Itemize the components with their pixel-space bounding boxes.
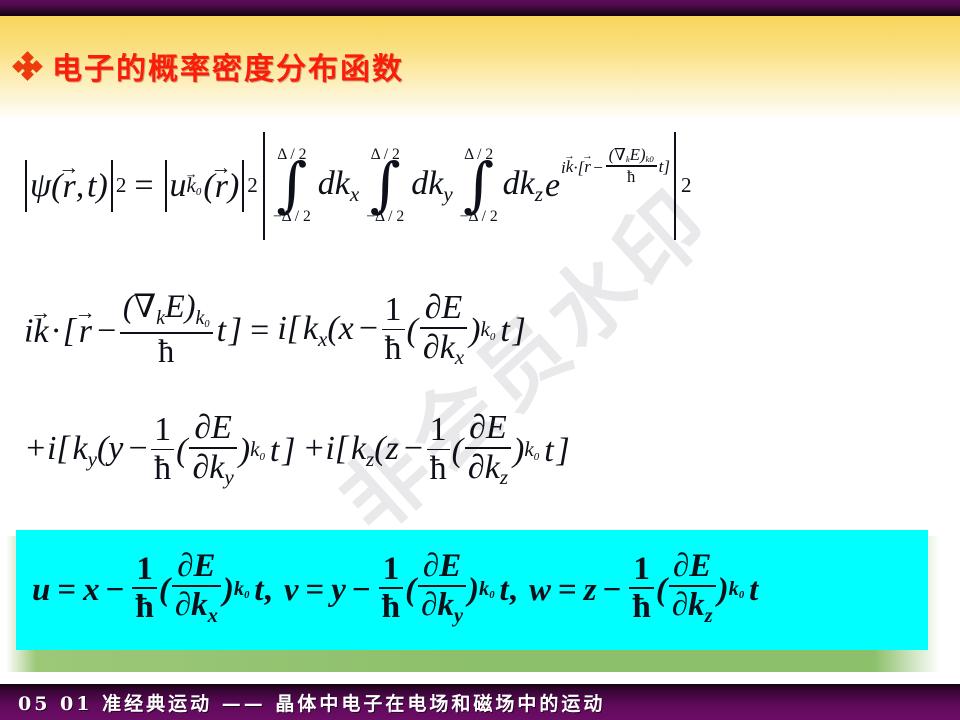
eq3-partial-fraction-y: ∂E ∂ky bbox=[189, 410, 236, 488]
eq4-partial-kx: ∂kx bbox=[172, 588, 221, 627]
exponent-expression: ik·[r − (∇kE)k0 ħ t] bbox=[561, 147, 670, 187]
eq4-t-w: t bbox=[749, 574, 758, 607]
eq2-paren-close: ) bbox=[469, 314, 480, 348]
eq4-x: x bbox=[83, 574, 100, 607]
eq3-term1-open: +i[ ky(y − bbox=[24, 432, 149, 470]
integral-ky-symbol: ∫ bbox=[370, 161, 401, 212]
eq4-comma-1: , bbox=[264, 574, 272, 607]
eq4-partial-fraction-w: ∂E ∂kz bbox=[669, 549, 716, 627]
eq3-partial-kz: ∂kz bbox=[465, 450, 511, 489]
eq4-v: v bbox=[284, 574, 299, 607]
eq4-one-over-hbar-u: 1 ħ bbox=[132, 552, 156, 625]
eq4-partial-kz: ∂kz bbox=[669, 588, 716, 627]
equals-sign-2: = bbox=[250, 314, 269, 348]
diamond-cluster-bullet-icon bbox=[14, 53, 40, 79]
eq4-paren-open-w: ( bbox=[656, 574, 667, 607]
u-arguments: (r) bbox=[203, 168, 239, 204]
outer-abs-bar-left bbox=[263, 132, 265, 240]
eq4-k0-subscript-w: k0 bbox=[729, 579, 745, 602]
eq4-paren-close-w: ) bbox=[718, 574, 729, 607]
eq4-paren-close-u: ) bbox=[223, 574, 234, 607]
dky-label: dky bbox=[411, 167, 452, 205]
eq4-w: w bbox=[529, 574, 551, 607]
footer-title: 05 01 准经典运动 —— 晶体中电子在电场和磁场中的运动 bbox=[18, 689, 605, 716]
eq4-paren-open-v: ( bbox=[405, 574, 416, 607]
integral-kx-symbol: ∫ bbox=[276, 161, 307, 212]
abs-bar-right bbox=[111, 160, 113, 212]
integral-ky-lower-limit: −Δ / 2 bbox=[366, 209, 404, 225]
equation-phase-expansion-yz: +i[ ky(y − 1 ħ ( ∂E ∂ky ) k0 t ] +i[ kz(… bbox=[24, 412, 570, 490]
eq4-hbar-u: ħ bbox=[132, 590, 156, 625]
eq4-hbar-w: ħ bbox=[629, 590, 653, 625]
eq2-gradient-fraction: (∇kE)k0 ħ bbox=[120, 290, 213, 368]
eq4-t-u: t bbox=[254, 574, 263, 607]
eq4-minus-w: − bbox=[603, 574, 622, 607]
psi-power: 2 bbox=[116, 175, 127, 196]
psi-symbol: ψ bbox=[30, 169, 51, 203]
eq4-k0-subscript-v: k0 bbox=[479, 579, 495, 602]
page-title: 电子的概率密度分布函数 bbox=[52, 44, 404, 88]
eq4-partial-fraction-u: ∂E ∂kx bbox=[172, 549, 221, 627]
eq3-k0-subscript-z: k0 bbox=[524, 439, 539, 462]
eq4-minus-v: − bbox=[352, 574, 371, 607]
eq3-one-z: 1 bbox=[427, 412, 450, 448]
eq3-paren-open-z: ( bbox=[452, 434, 463, 468]
eq2-one-over-hbar: 1 ħ bbox=[382, 292, 405, 367]
dkz-label: dkz bbox=[503, 167, 543, 205]
eq3-k0-subscript-y: k0 bbox=[250, 439, 265, 462]
eq3-hbar-z: ħ bbox=[427, 451, 450, 487]
eq3-one-over-hbar-y: 1 ħ bbox=[151, 412, 174, 487]
eq4-one-over-hbar-w: 1 ħ bbox=[629, 552, 653, 625]
exponent-denominator: ħ bbox=[624, 168, 638, 185]
highlighted-result-box: u = x − 1 ħ ( ∂E ∂kx ) k0 t , v = y − bbox=[16, 530, 928, 650]
slide-title-row: 电子的概率密度分布函数 bbox=[14, 44, 404, 88]
eq3-one-over-hbar-z: 1 ħ bbox=[427, 412, 450, 487]
eq3-hbar-y: ħ bbox=[151, 451, 174, 487]
eq3-paren-close-y: ) bbox=[239, 434, 250, 468]
exponential-base: e bbox=[545, 169, 560, 203]
eq2-denominator: ħ bbox=[155, 335, 177, 369]
equation-probability-density: ψ (r, t) 2 = u k0 (r) 2 Δ / 2 ∫ −Δ / 2 d… bbox=[22, 132, 692, 240]
exponent-numerator: (∇kE)k0 bbox=[606, 146, 657, 165]
eq2-lhs-prefix: ik · [ r − bbox=[24, 313, 118, 349]
slide-root: 电子的概率密度分布函数 非会员水印 ψ (r, t) 2 = u k0 (r) … bbox=[0, 0, 960, 720]
eq4-paren-open-u: ( bbox=[159, 574, 170, 607]
eq2-numerator: (∇kE)k0 bbox=[120, 290, 213, 330]
u-power: 2 bbox=[247, 175, 258, 196]
eq2-partial-kx: ∂kx bbox=[420, 330, 467, 369]
equals-sign-1: = bbox=[134, 169, 153, 203]
eq4-one-v: 1 bbox=[380, 552, 403, 587]
exponent-fraction: (∇kE)k0 ħ bbox=[606, 146, 657, 186]
eq4-k0-subscript-u: k0 bbox=[234, 579, 250, 602]
eq3-partial-E-y: ∂E bbox=[191, 410, 235, 446]
eq4-partial-E-u: ∂E bbox=[174, 549, 218, 584]
eq4-one-u: 1 bbox=[133, 552, 156, 587]
eq4-comma-2: , bbox=[509, 574, 517, 607]
abs-bar-u-right bbox=[242, 160, 244, 212]
dkx-label: dkx bbox=[318, 167, 359, 205]
eq4-u: u bbox=[32, 574, 50, 607]
eq2-rhs-open: i[ kx(x − bbox=[277, 312, 379, 350]
eq3-paren-open-y: ( bbox=[176, 434, 187, 468]
u-subscript: k0 bbox=[187, 174, 202, 198]
eq4-z: z bbox=[584, 574, 597, 607]
eq4-partial-ky: ∂ky bbox=[418, 588, 466, 627]
eq3-partial-E-z: ∂E bbox=[466, 410, 510, 446]
eq4-partial-E-w: ∂E bbox=[670, 549, 714, 584]
exponent-suffix: t] bbox=[659, 158, 670, 175]
eq4-one-over-hbar-v: 1 ħ bbox=[379, 552, 403, 625]
integral-ky: Δ / 2 ∫ −Δ / 2 bbox=[366, 147, 404, 225]
eq4-partial-E-v: ∂E bbox=[420, 549, 464, 584]
eq2-hbar: ħ bbox=[382, 331, 405, 367]
eq2-partial-fraction: ∂E ∂kx bbox=[420, 290, 467, 368]
integral-kz: Δ / 2 ∫ −Δ / 2 bbox=[460, 147, 498, 225]
eq3-partial-fraction-z: ∂E ∂kz bbox=[465, 410, 511, 488]
abs-bar-u-left bbox=[165, 160, 167, 212]
eq4-t-v: t bbox=[500, 574, 509, 607]
eq2-partial-E: ∂E bbox=[422, 290, 466, 326]
equation-uvw-result: u = x − 1 ħ ( ∂E ∂kx ) k0 t , v = y − bbox=[32, 551, 758, 629]
eq2-t-close: t ] bbox=[217, 314, 243, 348]
eq4-minus-u: − bbox=[106, 574, 125, 607]
eq3-one-y: 1 bbox=[151, 412, 174, 448]
eq3-term1-close: t ] bbox=[270, 434, 296, 468]
outer-power: 2 bbox=[681, 175, 692, 196]
eq3-paren-close-z: ) bbox=[513, 434, 524, 468]
footer-bar: 05 01 准经典运动 —— 晶体中电子在电场和磁场中的运动 bbox=[0, 684, 960, 720]
eq3-term2-open: +i[ kz(z − bbox=[302, 432, 424, 470]
top-decoration-bar bbox=[0, 0, 960, 16]
abs-bar-left bbox=[25, 160, 27, 212]
eq2-paren-open: ( bbox=[407, 314, 418, 348]
integral-kx-lower-limit: −Δ / 2 bbox=[273, 209, 311, 225]
integral-kz-lower-limit: −Δ / 2 bbox=[460, 209, 498, 225]
eq4-equals-w: = bbox=[558, 574, 577, 607]
eq2-one: 1 bbox=[382, 292, 405, 328]
eq3-term2-close: t ] bbox=[544, 434, 570, 468]
eq4-one-w: 1 bbox=[630, 552, 653, 587]
eq3-partial-ky: ∂ky bbox=[189, 450, 236, 489]
eq4-partial-fraction-v: ∂E ∂ky bbox=[418, 549, 466, 627]
eq4-y: y bbox=[331, 574, 346, 607]
integral-kx: Δ / 2 ∫ −Δ / 2 bbox=[273, 147, 311, 225]
eq4-equals-u: = bbox=[57, 574, 76, 607]
equation-phase-expansion: ik · [ r − (∇kE)k0 ħ t ] = i[ kx(x − 1 ħ… bbox=[24, 292, 526, 370]
eq2-close: t ] bbox=[500, 314, 526, 348]
eq4-equals-v: = bbox=[305, 574, 324, 607]
eq4-paren-close-v: ) bbox=[468, 574, 479, 607]
eq4-hbar-v: ħ bbox=[379, 590, 403, 625]
outer-abs-bar-right bbox=[674, 132, 676, 240]
integral-kz-symbol: ∫ bbox=[463, 161, 494, 212]
eq2-k0-subscript: k0 bbox=[480, 319, 495, 342]
psi-arguments: (r, t) bbox=[51, 168, 108, 204]
